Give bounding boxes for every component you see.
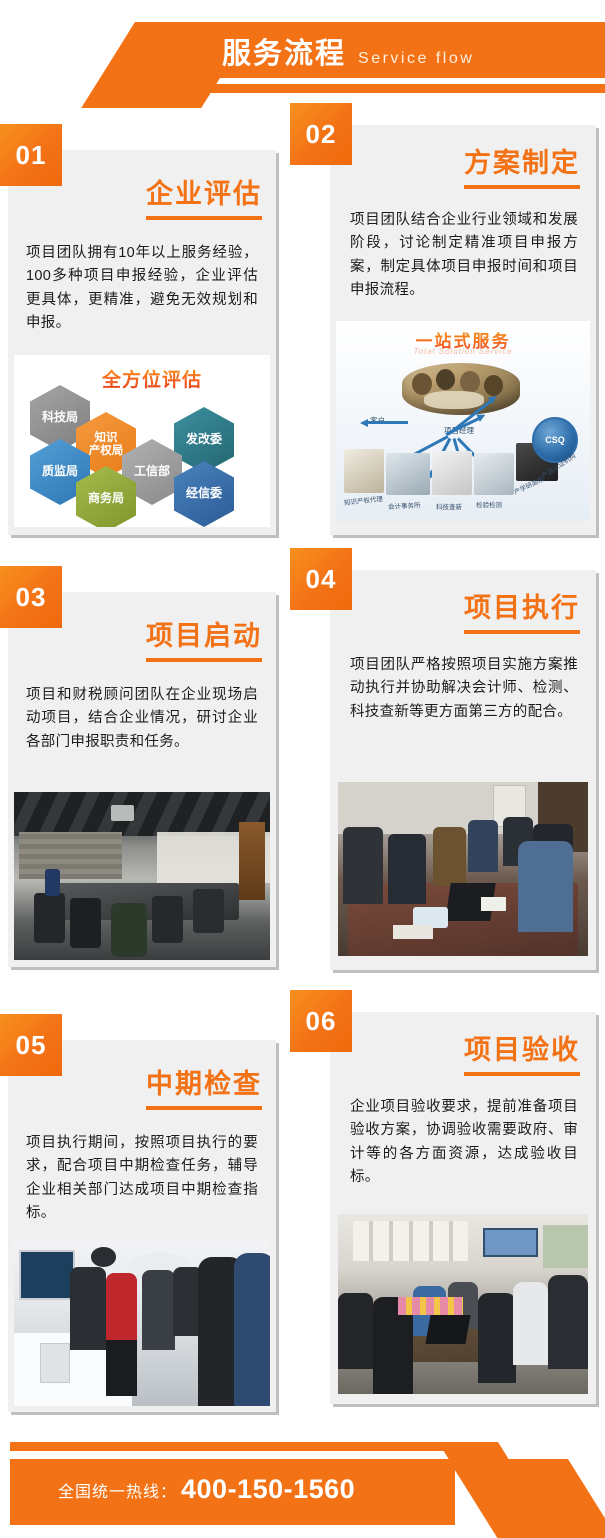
header-underline xyxy=(162,84,605,93)
page-header: 服务流程 Service flow xyxy=(0,0,605,108)
hex-node-4-label: 工信部 xyxy=(134,465,170,478)
header-title-group: 服务流程 Service flow xyxy=(222,30,474,72)
service-flow-infographic: 服务流程 Service flow 01 企业评估 项目团队拥有10年以上服务经… xyxy=(0,0,605,1538)
card-title-03: 项目启动 xyxy=(146,614,262,653)
oss-caption-1: 会计事务所 xyxy=(388,499,421,511)
card-photo-03 xyxy=(14,792,270,960)
card-title-04: 项目执行 xyxy=(464,586,580,625)
card-03[interactable]: 03 项目启动 项目和财税顾问团队在企业现场启动项目，结合企业情况，研讨企业各部… xyxy=(8,592,276,967)
card-number-badge-02: 02 xyxy=(290,103,352,165)
hex-node-6: 经信委 xyxy=(174,461,234,527)
card-body-05: 项目执行期间，按照项目执行的要求，配合项目中期检查任务，辅导企业相关部门达成项目… xyxy=(26,1132,258,1226)
card-photo-06 xyxy=(338,1214,588,1394)
card-01[interactable]: 01 企业评估 项目团队拥有10年以上服务经验，100多种项目申报经验，企业评估… xyxy=(8,150,276,535)
footer-bar-skew xyxy=(448,1459,605,1538)
card-photo-04 xyxy=(338,782,588,956)
oss-caption-0: 知识产权代理 xyxy=(343,493,383,507)
card-title-01: 企业评估 xyxy=(146,172,262,211)
card-photo-05 xyxy=(14,1240,270,1406)
one-stop-service-diagram: 一站式服务 Total Solution Service 客户 项目经理 xyxy=(336,321,590,521)
title-rule-03 xyxy=(146,658,262,662)
hex-node-6-label: 经信委 xyxy=(186,487,222,500)
hotline-label: 全国统一热线： xyxy=(58,1478,177,1502)
hex-node-2-label: 发改委 xyxy=(186,433,222,446)
card-number-badge-04: 04 xyxy=(290,548,352,610)
card-number-badge-01: 01 xyxy=(0,124,62,186)
title-rule-01 xyxy=(146,216,262,220)
hexagon-diagram-title: 全方位评估 xyxy=(102,365,202,392)
card-title-group-04: 项目执行 xyxy=(464,586,580,634)
card-number-badge-06: 06 xyxy=(290,990,352,1052)
oss-tile-1 xyxy=(386,453,430,495)
title-rule-06 xyxy=(464,1072,580,1076)
card-title-group-03: 项目启动 xyxy=(146,614,262,662)
page-title: 服务流程 xyxy=(222,30,346,72)
oss-subtitle: Total Solution Service xyxy=(413,347,512,356)
oss-caption-2: 科技查新 xyxy=(436,501,462,511)
card-06[interactable]: 06 项目验收 企业项目验收要求，提前准备项目验收方案，协调验收需要政府、审计等… xyxy=(330,1012,596,1404)
oss-tile-3 xyxy=(474,453,514,495)
hex-node-0-label: 科技局 xyxy=(42,411,78,424)
oss-tile-2 xyxy=(432,451,472,495)
hex-node-1-label: 知识 产权局 xyxy=(89,432,124,458)
card-body-04: 项目团队严格按照项目实施方案推动执行并协助解决会计师、检测、科技查新等更方面第三… xyxy=(350,654,578,724)
card-body-02: 项目团队结合企业行业领域和发展阶段，讨论制定精准项目申报方案，制定具体项目申报时… xyxy=(350,209,578,303)
card-number-badge-05: 05 xyxy=(0,1014,62,1076)
card-title-06: 项目验收 xyxy=(464,1028,580,1067)
title-rule-02 xyxy=(464,185,580,189)
card-title-group-01: 企业评估 xyxy=(146,172,262,220)
oss-caption-3: 检验检测 xyxy=(476,499,502,509)
oss-seal-text: CSQ xyxy=(545,435,565,445)
card-02[interactable]: 02 方案制定 项目团队结合企业行业领域和发展阶段，讨论制定精准项目申报方案，制… xyxy=(330,125,596,535)
card-title-group-05: 中期检查 xyxy=(146,1062,262,1110)
card-05[interactable]: 05 中期检查 项目执行期间，按照项目执行的要求，配合项目中期检查任务，辅导企业… xyxy=(8,1040,276,1412)
hotline-group[interactable]: 全国统一热线： 400-150-1560 xyxy=(58,1474,355,1505)
oss-tile-0 xyxy=(344,449,384,493)
page-footer: 全国统一热线： 400-150-1560 xyxy=(0,1408,605,1538)
hex-node-3-label: 质监局 xyxy=(42,465,78,478)
card-title-group-06: 项目验收 xyxy=(464,1028,580,1076)
card-title-05: 中期检查 xyxy=(146,1062,262,1101)
footer-accent-line xyxy=(10,1442,445,1451)
card-body-06: 企业项目验收要求，提前准备项目验收方案，协调验收需要政府、审计等的各方面资源，达… xyxy=(350,1096,578,1190)
hotline-number[interactable]: 400-150-1560 xyxy=(181,1474,355,1505)
card-04[interactable]: 04 项目执行 项目团队严格按照项目实施方案推动执行并协助解决会计师、检测、科技… xyxy=(330,570,596,970)
oss-center-photo xyxy=(402,363,520,415)
hex-node-5-label: 商务局 xyxy=(88,492,124,505)
hexagon-diagram: 全方位评估 科技局 知识 产权局 发改委 质监局 工信部 商务局 经信委 xyxy=(14,355,270,527)
card-number-badge-03: 03 xyxy=(0,566,62,628)
card-title-group-02: 方案制定 xyxy=(464,141,580,189)
card-body-01: 项目团队拥有10年以上服务经验，100多种项目申报经验，企业评估更具体，更精准，… xyxy=(26,242,258,336)
oss-arrow-0 xyxy=(366,421,408,424)
title-rule-05 xyxy=(146,1106,262,1110)
card-title-02: 方案制定 xyxy=(464,141,580,180)
page-subtitle: Service flow xyxy=(358,50,474,68)
card-body-03: 项目和财税顾问团队在企业现场启动项目，结合企业情况，研讨企业各部门申报职责和任务… xyxy=(26,684,258,754)
title-rule-04 xyxy=(464,630,580,634)
